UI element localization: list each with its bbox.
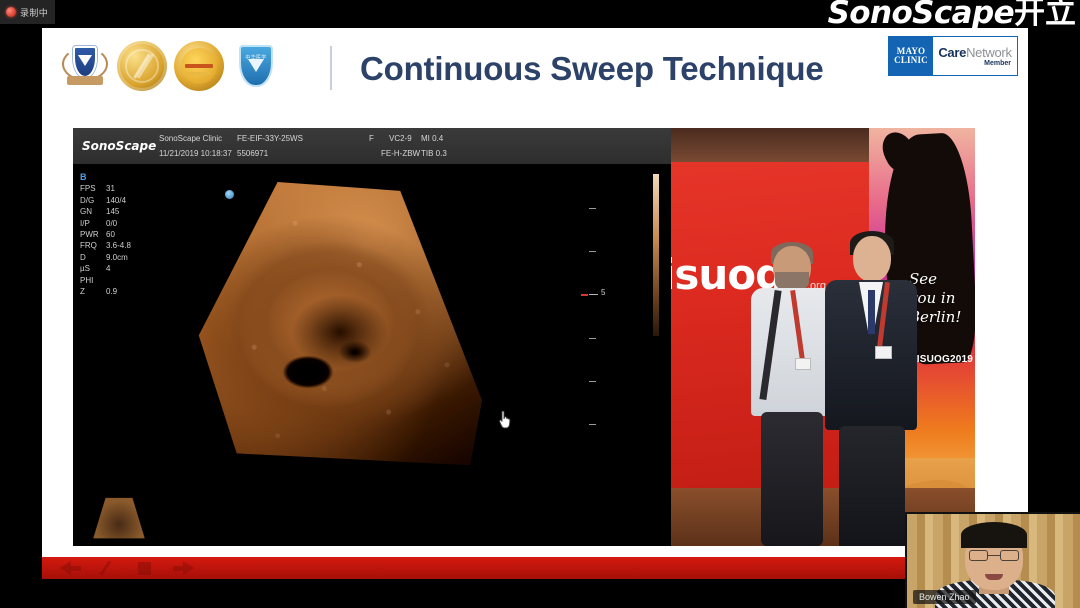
presentation-slide: 中华医学 Continuous Sweep Technique MAYO CLI… [42, 28, 1028, 557]
ultrasound-b-mode-image [190, 182, 482, 477]
mayo-clinic-mark: MAYO CLINIC [889, 37, 933, 75]
parameter-key: D [80, 252, 106, 263]
ultrasound-screen: SonoScape SonoScape Clinic 11/21/2019 10… [73, 128, 671, 546]
depth-scale: 5 [589, 176, 619, 506]
photo-person-right [825, 236, 917, 546]
brand-latin: SonoScape [828, 0, 1014, 31]
berlin-poster-text: See you in Berlin! [909, 270, 975, 327]
poster-line-3: Berlin! [909, 308, 975, 327]
mayo-clinic-care-network-badge: MAYO CLINIC CareNetwork Member [888, 36, 1018, 76]
back-arrow-icon[interactable] [60, 561, 71, 575]
imaging-parameter-row: Z0.9 [80, 286, 131, 297]
patient-sex: F [369, 134, 374, 143]
sonoscape-brand-logo: SonoScape开立 [828, 0, 1076, 28]
blue-shield-crest-icon: 中华医学 [231, 41, 281, 91]
conference-photo: isuog .org See you in Berlin! #ISUOG2019 [671, 128, 975, 546]
parameter-key: µS [80, 263, 106, 274]
recording-indicator[interactable]: 录制中 [0, 0, 55, 24]
parameter-value: 4 [106, 263, 110, 274]
parameter-value: 0/0 [106, 218, 117, 229]
top-bar: 录制中 SonoScape开立 [0, 0, 1080, 28]
header-divider [330, 46, 332, 90]
probe-orientation-marker-icon [225, 190, 234, 199]
parameter-value: 60 [106, 229, 115, 240]
poster-line-1: See [909, 270, 975, 289]
glasses-icon [969, 550, 1019, 561]
exam-name: FE-EIF-33Y-25WS [237, 134, 303, 143]
network-word: Network [966, 45, 1012, 60]
page-title: Continuous Sweep Technique [360, 50, 824, 88]
parameter-value: 145 [106, 206, 119, 217]
imaging-parameter-row: GN145 [80, 206, 131, 217]
back-arrow-tail[interactable] [71, 566, 81, 571]
parameter-key: PWR [80, 229, 106, 240]
imaging-parameter-row: PWR60 [80, 229, 131, 240]
institution-logos: 中华医学 [60, 41, 281, 91]
parameter-key: PHI [80, 275, 106, 286]
ultrasound-vendor-logo: SonoScape [82, 139, 156, 153]
parameter-key: D/G [80, 195, 106, 206]
imaging-parameter-row: FRQ3.6-4.8 [80, 240, 131, 251]
poster-line-2: you in [909, 289, 975, 308]
clinic-name: SonoScape Clinic [159, 134, 222, 143]
imaging-parameter-row: FPS31 [80, 183, 131, 194]
parameter-key: GN [80, 206, 106, 217]
tib-value: TIB 0.3 [421, 149, 447, 158]
imaging-parameter-row: I/P0/0 [80, 218, 131, 229]
preset-name: FE-H-ZBW [381, 149, 420, 158]
imaging-parameter-row: µS4 [80, 263, 131, 274]
webcam-pip[interactable]: Bowen Zhao [905, 512, 1080, 608]
care-word: Care [938, 45, 966, 60]
parameter-value: 140/4 [106, 195, 126, 206]
mi-value: MI 0.4 [421, 134, 443, 143]
member-word: Member [984, 60, 1011, 67]
parameter-value: 9.0cm [106, 252, 128, 263]
parameter-value: 0.9 [106, 286, 117, 297]
imaging-parameter-row: PHI [80, 275, 131, 286]
mouse-cursor-icon [498, 410, 514, 430]
mayo-line-2: CLINIC [894, 56, 928, 65]
conference-hashtag: #ISUOG2019 [911, 354, 973, 365]
probe-model: VC2-9 [389, 134, 412, 143]
university-hospital-crest-icon [60, 41, 110, 91]
care-network-row: CareNetwork [938, 46, 1011, 59]
gold-seal-award-icon [174, 41, 224, 91]
stop-square-icon[interactable] [138, 562, 151, 575]
depth-scale-label: 5 [601, 288, 605, 297]
exam-datetime: 11/21/2019 10:18:37 [159, 149, 232, 158]
parameter-key: Z [80, 286, 106, 297]
forward-arrow-icon[interactable] [183, 561, 194, 575]
parameter-key: I/P [80, 218, 106, 229]
ultrasound-header-bar: SonoScape SonoScape Clinic 11/21/2019 10… [73, 128, 671, 164]
photo-person-left [749, 246, 835, 546]
imaging-parameter-row: D/G140/4 [80, 195, 131, 206]
parameter-value: 31 [106, 183, 115, 194]
patient-id: 5506971 [237, 149, 268, 158]
care-network-mark: CareNetwork Member [933, 37, 1017, 75]
forward-arrow-tail[interactable] [173, 566, 183, 571]
parameter-key: FPS [80, 183, 106, 194]
parameter-value: 3.6-4.8 [106, 240, 131, 251]
imaging-mode: B [80, 172, 131, 183]
recording-label: 录制中 [20, 6, 48, 19]
ultrasound-image-area: B FPS31D/G140/4GN145I/P0/0PWR60FRQ3.6-4.… [73, 164, 671, 546]
cine-loop-thumbnail[interactable] [91, 496, 147, 542]
imaging-parameters-panel: B FPS31D/G140/4GN145I/P0/0PWR60FRQ3.6-4.… [80, 172, 131, 297]
tgc-gain-curve[interactable] [653, 174, 659, 336]
pen-icon[interactable] [100, 561, 111, 576]
screen-root: 录制中 SonoScape开立 中华医学 Continuous [0, 0, 1080, 608]
slideshow-toolbar [42, 557, 1028, 579]
brand-cjk: 开立 [1014, 0, 1076, 31]
participant-name-label: Bowen Zhao [913, 590, 976, 604]
slide-header: 中华医学 Continuous Sweep Technique MAYO CLI… [42, 28, 1028, 106]
gold-medal-award-icon [117, 41, 167, 91]
record-dot-icon [6, 7, 16, 17]
imaging-parameter-row: D9.0cm [80, 252, 131, 263]
pip-hair [961, 522, 1027, 548]
parameter-key: FRQ [80, 240, 106, 251]
